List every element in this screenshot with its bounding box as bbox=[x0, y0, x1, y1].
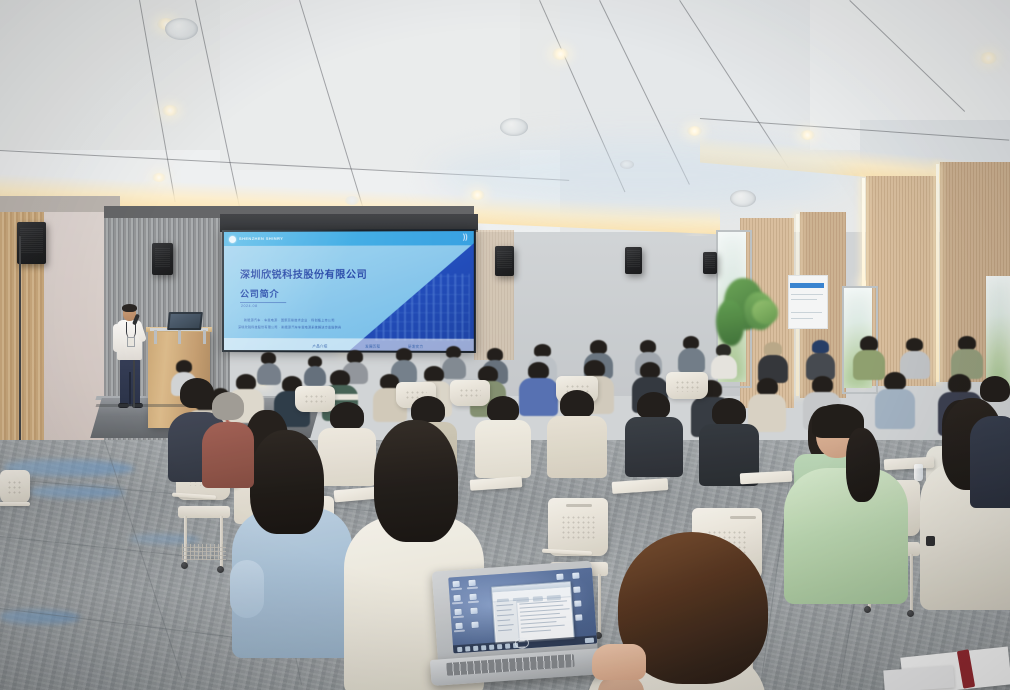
taskbar-icon[interactable] bbox=[465, 646, 470, 651]
slide-product-image bbox=[375, 274, 469, 341]
wall-header-band bbox=[0, 196, 120, 212]
ceiling-speaker bbox=[165, 18, 198, 40]
ceiling-downlight bbox=[552, 48, 569, 60]
taskbar-icon[interactable] bbox=[489, 644, 494, 649]
podium-leg bbox=[178, 330, 181, 344]
presentation-slide: SHENZHEN SHINRY )) 深圳欣锐科技股份有限公司 公司简介 202… bbox=[224, 231, 474, 351]
slide-blue-triangle bbox=[345, 243, 474, 351]
projection-screen: SHENZHEN SHINRY )) 深圳欣锐科技股份有限公司 公司简介 202… bbox=[222, 229, 476, 353]
ceiling bbox=[0, 0, 1010, 232]
foreground-laptop[interactable] bbox=[424, 560, 607, 690]
podium-leg bbox=[154, 330, 157, 344]
wall-speaker bbox=[625, 247, 642, 274]
desktop-icon[interactable] bbox=[452, 581, 459, 587]
speaker-cable bbox=[19, 236, 21, 456]
paper-notes[interactable] bbox=[883, 666, 954, 690]
ceiling-downlight bbox=[800, 130, 815, 140]
desktop-icon[interactable] bbox=[469, 594, 476, 600]
water-bottle[interactable] bbox=[914, 464, 923, 481]
vertical-led-strip bbox=[936, 164, 939, 382]
company-logo-text: SHENZHEN SHINRY bbox=[239, 236, 283, 241]
desktop-icon[interactable] bbox=[453, 595, 460, 601]
poster-text-line bbox=[791, 312, 822, 313]
desktop-icon[interactable] bbox=[470, 608, 477, 614]
ceiling-downlight bbox=[162, 105, 178, 116]
desktop-icon[interactable] bbox=[455, 623, 462, 629]
wall-speaker bbox=[703, 252, 717, 274]
desktop-icon[interactable] bbox=[574, 600, 581, 606]
presenter-badge bbox=[127, 337, 135, 347]
window-far-right bbox=[986, 276, 1010, 388]
company-logo-icon bbox=[229, 236, 236, 243]
taskbar-clock[interactable] bbox=[585, 637, 594, 643]
ceiling-speaker bbox=[730, 190, 756, 207]
presenter-arm-left bbox=[113, 324, 120, 352]
taskbar-icon[interactable] bbox=[473, 645, 478, 650]
podium-laptop bbox=[167, 312, 203, 330]
plant-foliage bbox=[716, 300, 744, 346]
podium-leg bbox=[203, 330, 206, 344]
slide-footer-item-3: 研发实力 bbox=[408, 344, 423, 349]
slide-fineprint-1: 新能源汽车 · 车载电源 · 国家高新技术企业 · 科创板上市公司 bbox=[244, 318, 335, 322]
smartwatch bbox=[926, 536, 935, 546]
ceiling-downlight bbox=[687, 126, 702, 136]
slide-subtitle: 公司简介 bbox=[240, 287, 279, 300]
wall-speaker bbox=[17, 222, 46, 264]
slide-fineprint-2: 深圳欣锐科技股份有限公司 · 新能源汽车车载电源系统解决方案提供商 bbox=[238, 325, 341, 329]
conference-room-photo: SHENZHEN SHINRY )) 深圳欣锐科技股份有限公司 公司简介 202… bbox=[0, 0, 1010, 690]
ceiling-speaker bbox=[620, 160, 634, 169]
desktop-icon[interactable] bbox=[556, 574, 563, 580]
desktop-icon[interactable] bbox=[454, 609, 461, 615]
desktop-icon[interactable] bbox=[468, 580, 475, 586]
slide-title: 深圳欣锐科技股份有限公司 bbox=[240, 266, 367, 281]
desktop-icon[interactable] bbox=[575, 614, 582, 620]
ceiling-speaker bbox=[500, 118, 528, 136]
plant-foliage bbox=[752, 300, 778, 324]
presenter-leg-gap bbox=[129, 372, 131, 406]
taskbar-icon[interactable] bbox=[497, 644, 502, 649]
desktop-icon[interactable] bbox=[471, 622, 478, 628]
ceiling-downlight-dim bbox=[345, 196, 359, 205]
carpet-blue-accent bbox=[130, 534, 200, 544]
desktop-icon[interactable] bbox=[573, 586, 580, 592]
wall-speaker bbox=[152, 243, 173, 275]
poster-text-line bbox=[791, 294, 823, 295]
spreadsheet-window[interactable] bbox=[491, 581, 575, 644]
hand-on-keyboard bbox=[592, 644, 646, 680]
slide-footer-item-1: 产品介绍 bbox=[312, 343, 327, 348]
poster-text-line bbox=[791, 299, 817, 300]
laptop-lid bbox=[432, 561, 598, 664]
wall-speaker bbox=[495, 246, 514, 276]
desktop-icon[interactable] bbox=[572, 572, 579, 578]
ceiling-downlight bbox=[152, 173, 166, 182]
poster-text-line bbox=[791, 318, 813, 319]
poster-header-band bbox=[790, 283, 824, 288]
presenter-hair bbox=[122, 304, 137, 312]
laptop-keyboard[interactable] bbox=[446, 654, 575, 676]
slide-date: 2024.08 bbox=[241, 304, 258, 308]
taskbar-icon[interactable] bbox=[505, 643, 510, 648]
window-sidebar[interactable] bbox=[494, 601, 520, 643]
slide-corner-mark: )) bbox=[463, 234, 468, 241]
microphone-cable bbox=[133, 360, 135, 408]
slide-footer-bar bbox=[224, 338, 474, 351]
ceiling-downlight bbox=[980, 52, 997, 64]
taskbar-icon[interactable] bbox=[481, 645, 486, 650]
ceiling-downlight bbox=[470, 190, 485, 200]
slide-footer-item-2: 发展历程 bbox=[365, 343, 380, 348]
slide-divider bbox=[240, 302, 286, 303]
taskbar-icon[interactable] bbox=[457, 646, 462, 651]
